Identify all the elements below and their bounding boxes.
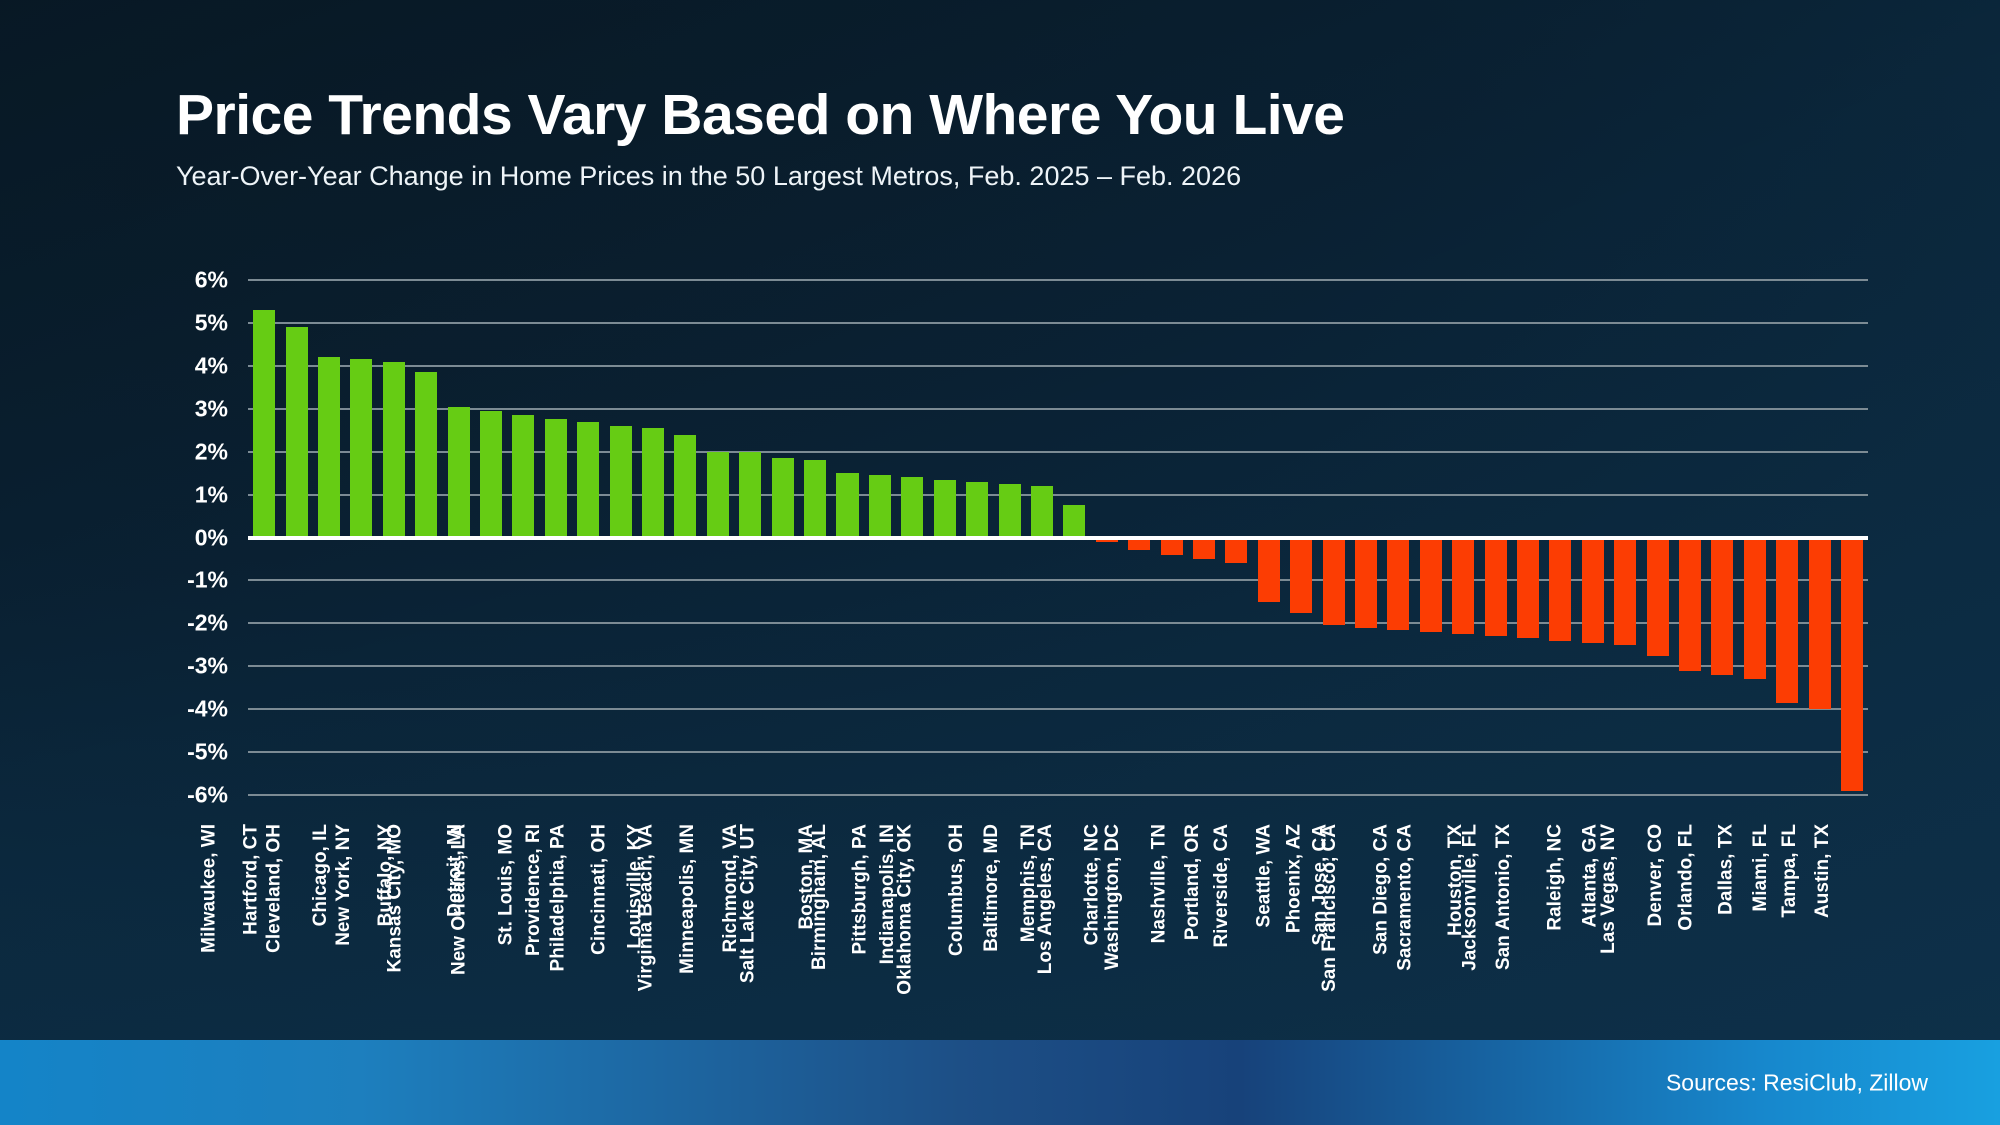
y-axis-tick-label: -1% bbox=[187, 567, 228, 594]
bar[interactable] bbox=[415, 372, 437, 537]
x-axis-tick-label: Kansas City, MO bbox=[385, 824, 404, 973]
y-axis-tick-label: 2% bbox=[195, 438, 228, 465]
x-axis-tick-label: New York, NY bbox=[334, 824, 353, 946]
x-axis-tick-label: San Diego, CA bbox=[1371, 824, 1390, 955]
bar[interactable] bbox=[1679, 538, 1701, 671]
x-axis-tick-label: Pittsburgh, PA bbox=[850, 824, 869, 955]
y-axis-tick-label: 5% bbox=[195, 309, 228, 336]
bar[interactable] bbox=[1485, 538, 1507, 637]
x-axis-tick-label: Dallas, TX bbox=[1717, 824, 1736, 915]
bar[interactable] bbox=[707, 452, 729, 538]
bar[interactable] bbox=[739, 452, 761, 538]
x-axis-tick-label: Tampa, FL bbox=[1780, 824, 1799, 918]
x-axis-label-slot: Hartford, CT bbox=[281, 824, 314, 1034]
y-axis-tick-label: 3% bbox=[195, 395, 228, 422]
zero-line bbox=[248, 536, 1868, 540]
x-axis-tick-label: Nashville, TN bbox=[1149, 824, 1168, 943]
bar[interactable] bbox=[1420, 538, 1442, 632]
bar[interactable] bbox=[966, 482, 988, 538]
x-axis-tick-label: Austin, TX bbox=[1813, 824, 1832, 918]
x-axis-tick-label: Birmingham, AL bbox=[810, 824, 829, 970]
bar[interactable] bbox=[1647, 538, 1669, 656]
x-axis-tick-label: Cincinnati, OH bbox=[590, 824, 609, 955]
x-axis-tick-label: Charlotte, NC bbox=[1083, 824, 1102, 945]
y-axis: 6%5%4%3%2%1%0%-1%-2%-3%-4%-5%-6% bbox=[176, 280, 238, 795]
y-axis-tick-label: -5% bbox=[187, 739, 228, 766]
y-axis-tick-label: 6% bbox=[195, 267, 228, 294]
bar[interactable] bbox=[253, 310, 275, 537]
x-axis-tick-label: Sacramento, CA bbox=[1396, 824, 1415, 971]
bar[interactable] bbox=[1614, 538, 1636, 645]
bar[interactable] bbox=[1452, 538, 1474, 635]
x-axis-tick-label: Philadelphia, PA bbox=[549, 824, 568, 971]
x-axis-tick-label: Hartford, CT bbox=[241, 824, 260, 935]
x-axis-tick-label: Orlando, FL bbox=[1676, 824, 1695, 931]
bar[interactable] bbox=[1063, 505, 1085, 537]
bar[interactable] bbox=[772, 458, 794, 537]
page-subtitle: Year-Over-Year Change in Home Prices in … bbox=[176, 161, 1876, 192]
bar[interactable] bbox=[1776, 538, 1798, 703]
bar[interactable] bbox=[1258, 538, 1280, 602]
footer-bar: Sources: ResiClub, Zillow bbox=[0, 1040, 2000, 1125]
x-axis-label-slot: Buffalo, NY bbox=[411, 824, 444, 1034]
bar[interactable] bbox=[383, 362, 405, 538]
bar[interactable] bbox=[577, 422, 599, 538]
y-axis-tick-label: 1% bbox=[195, 481, 228, 508]
x-axis-tick-label: Minneapolis, MN bbox=[678, 824, 697, 974]
bar[interactable] bbox=[901, 477, 923, 537]
header: Price Trends Vary Based on Where You Liv… bbox=[176, 86, 1876, 192]
bar[interactable] bbox=[1582, 538, 1604, 643]
bar[interactable] bbox=[1841, 538, 1863, 791]
bar[interactable] bbox=[1517, 538, 1539, 639]
x-axis-tick-label: Riverside, CA bbox=[1212, 824, 1231, 948]
source-credit: Sources: ResiClub, Zillow bbox=[1666, 1069, 1928, 1096]
x-axis-tick-label: Providence, RI bbox=[524, 824, 543, 956]
bar[interactable] bbox=[999, 484, 1021, 538]
x-axis-tick-label: Los Angeles, CA bbox=[1036, 824, 1055, 974]
x-axis-tick-label: Raleigh, NC bbox=[1546, 824, 1565, 931]
x-axis-tick-label: Cleveland, OH bbox=[265, 824, 284, 953]
x-axis-tick-label: Denver, CO bbox=[1646, 824, 1665, 926]
y-axis-tick-label: -6% bbox=[187, 782, 228, 809]
bar[interactable] bbox=[286, 327, 308, 537]
x-axis-tick-label: Milwaukee, WI bbox=[200, 824, 219, 953]
x-axis-tick-label: San Francisco, CA bbox=[1320, 824, 1339, 992]
x-axis-tick-label: St. Louis, MO bbox=[497, 824, 516, 945]
x-axis-tick-label: Seattle, WA bbox=[1255, 824, 1274, 927]
bar[interactable] bbox=[1225, 538, 1247, 564]
bar[interactable] bbox=[1193, 538, 1215, 559]
x-axis-tick-label: Washington, DC bbox=[1103, 824, 1122, 970]
x-axis-tick-label: Jacksonville, FL bbox=[1461, 824, 1480, 971]
x-axis-tick-label: Phoenix, AZ bbox=[1284, 824, 1303, 933]
x-axis-tick-label: Chicago, IL bbox=[311, 824, 330, 926]
chart-plot-area: 6%5%4%3%2%1%0%-1%-2%-3%-4%-5%-6% bbox=[176, 280, 1876, 820]
bar[interactable] bbox=[1711, 538, 1733, 675]
x-axis-tick-label: San Antonio, TX bbox=[1494, 824, 1513, 970]
bar[interactable] bbox=[1387, 538, 1409, 630]
bar[interactable] bbox=[350, 359, 372, 537]
x-axis-label-slot: Austin, TX bbox=[1844, 824, 1877, 1034]
x-axis-label-slot: Atlanta, GA bbox=[1616, 824, 1649, 1034]
bar[interactable] bbox=[674, 435, 696, 538]
slide-background: Price Trends Vary Based on Where You Liv… bbox=[0, 0, 2000, 1125]
bar[interactable] bbox=[804, 460, 826, 537]
y-axis-tick-label: -2% bbox=[187, 610, 228, 637]
x-axis-tick-label: Las Vegas, NV bbox=[1600, 824, 1619, 954]
x-axis-tick-label: New Orleans, LA bbox=[449, 824, 468, 975]
x-axis-tick-label: Atlanta, GA bbox=[1580, 824, 1599, 927]
page-title: Price Trends Vary Based on Where You Liv… bbox=[176, 86, 1876, 146]
bar[interactable] bbox=[1809, 538, 1831, 710]
y-axis-tick-label: -3% bbox=[187, 653, 228, 680]
bar[interactable] bbox=[934, 480, 956, 538]
bar[interactable] bbox=[448, 407, 470, 538]
x-axis-tick-label: Miami, FL bbox=[1751, 824, 1770, 912]
bar[interactable] bbox=[836, 473, 858, 537]
x-axis-tick-label: Portland, OR bbox=[1183, 824, 1202, 940]
bar[interactable] bbox=[869, 475, 891, 537]
bar[interactable] bbox=[610, 426, 632, 538]
chart-grid bbox=[248, 280, 1868, 795]
x-axis-tick-label: Columbus, OH bbox=[947, 824, 966, 956]
bar[interactable] bbox=[1323, 538, 1345, 626]
x-axis-tick-label: Salt Lake City, UT bbox=[738, 824, 757, 983]
bar[interactable] bbox=[1355, 538, 1377, 628]
x-axis-tick-label: Baltimore, MD bbox=[982, 824, 1001, 952]
bar[interactable] bbox=[1549, 538, 1571, 641]
bar[interactable] bbox=[642, 428, 664, 537]
bar[interactable] bbox=[1161, 538, 1183, 555]
bar[interactable] bbox=[545, 419, 567, 537]
bar[interactable] bbox=[1031, 486, 1053, 538]
bar[interactable] bbox=[1744, 538, 1766, 680]
y-axis-tick-label: 4% bbox=[195, 352, 228, 379]
bar[interactable] bbox=[480, 411, 502, 538]
bar[interactable] bbox=[512, 415, 534, 537]
bar[interactable] bbox=[1290, 538, 1312, 613]
y-axis-tick-label: -4% bbox=[187, 696, 228, 723]
x-axis-tick-label: Oklahoma City, OK bbox=[895, 824, 914, 995]
y-axis-tick-label: 0% bbox=[195, 524, 228, 551]
x-axis-tick-label: Virginia Beach, VA bbox=[637, 824, 656, 991]
x-axis-labels: Milwaukee, WIHartford, CTCleveland, OHCh… bbox=[248, 824, 1876, 1034]
bar[interactable] bbox=[318, 357, 340, 537]
